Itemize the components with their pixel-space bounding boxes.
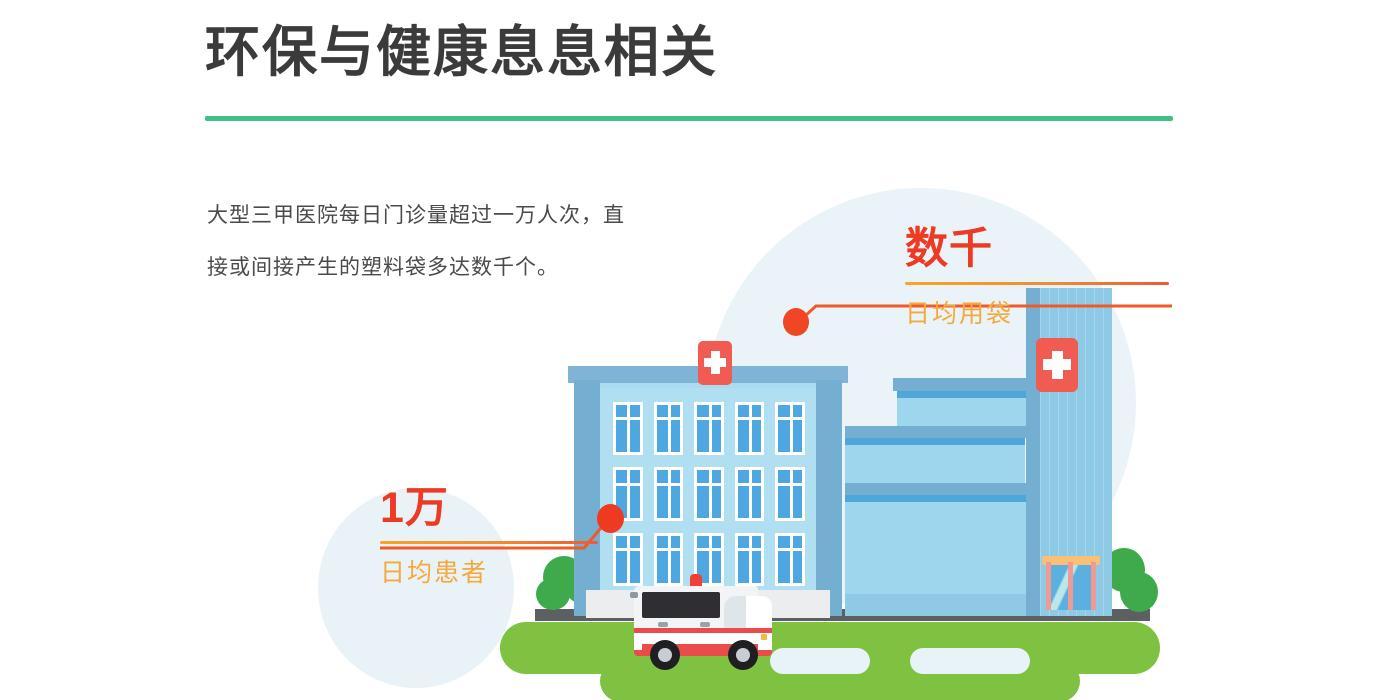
window-grid [613,402,805,586]
window [735,402,765,455]
callout-rule [380,541,598,544]
window [775,402,805,455]
tower-entrance-door [1046,564,1096,610]
callout-value: 数千 [905,228,1185,271]
window [654,467,684,520]
title-underline [205,116,1173,121]
window [735,467,765,520]
callout-dot-top [783,308,809,336]
window [694,467,724,520]
path-segment [770,648,870,674]
callout-label: 日均用袋 [905,294,1185,330]
slide-canvas: 环保与健康息息相关 大型三甲医院每日门诊量超过一万人次，直接或间接产生的塑料袋多… [0,0,1400,700]
callout-value: 1万 [380,487,610,530]
window [654,402,684,455]
path-segment [910,648,1030,674]
bush-icon [1120,572,1158,612]
window [694,402,724,455]
page-title: 环保与健康息息相关 [205,22,718,83]
window [775,533,805,586]
window [613,402,643,455]
glass-curtain-wing [845,378,1035,616]
callout-bottom: 1万 日均患者 [380,487,610,589]
red-cross-icon [698,341,732,385]
ambulance-icon [628,572,776,664]
body-paragraph: 大型三甲医院每日门诊量超过一万人次，直接或间接产生的塑料袋多达数千个。 [207,190,637,294]
callout-top: 数千 日均用袋 [905,228,1185,330]
callout-rule [905,282,1169,285]
red-cross-icon [1036,338,1078,392]
callout-label: 日均患者 [380,553,610,589]
window [775,467,805,520]
